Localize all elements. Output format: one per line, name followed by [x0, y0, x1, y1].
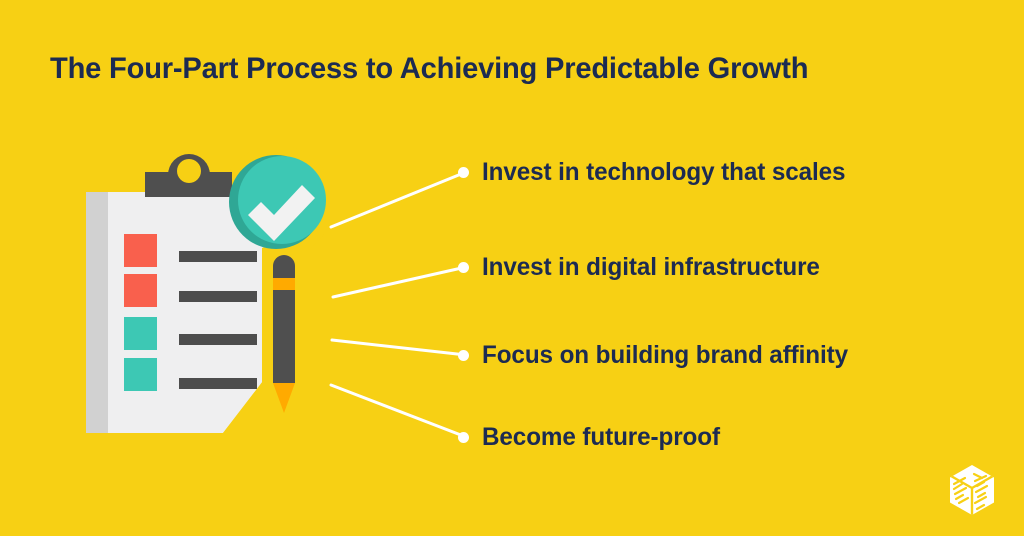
- text-line-2: [179, 291, 257, 302]
- connector-line-4: [331, 385, 466, 437]
- connector-line-2: [333, 267, 466, 297]
- checkbox-square-2: [124, 274, 157, 307]
- clipboard-checklist-illustration: [80, 140, 350, 460]
- bullet-item-label: Invest in digital infrastructure: [482, 253, 820, 282]
- text-line-3: [179, 334, 257, 345]
- bullet-item-3[interactable]: Focus on building brand affinity: [458, 338, 859, 372]
- clipboard-clip: [145, 154, 232, 197]
- bullet-item-4[interactable]: Become future-proof: [458, 420, 727, 454]
- text-line-1: [179, 251, 257, 262]
- bullet-dot-icon: [458, 350, 469, 361]
- hexagon-cube-logo: [948, 464, 996, 516]
- checkbox-square-3: [124, 317, 157, 350]
- connector-line-3: [332, 340, 466, 355]
- checkbox-square-1: [124, 234, 157, 267]
- text-line-4: [179, 378, 257, 389]
- pencil-icon: [262, 243, 306, 418]
- logo-hex-body: [948, 464, 996, 516]
- slide-canvas: The Four-Part Process to Achieving Predi…: [0, 0, 1024, 536]
- bullet-dot-icon: [458, 262, 469, 273]
- bullet-dot-icon: [458, 167, 469, 178]
- bullet-item-2[interactable]: Invest in digital infrastructure: [458, 250, 830, 284]
- bullet-item-label: Invest in technology that scales: [482, 158, 845, 187]
- checkbox-square-4: [124, 358, 157, 391]
- bullet-item-label: Become future-proof: [482, 423, 720, 452]
- bullet-item-label: Focus on building brand affinity: [482, 341, 848, 370]
- bullet-dot-icon: [458, 432, 469, 443]
- bullet-item-1[interactable]: Invest in technology that scales: [458, 155, 857, 189]
- connector-line-1: [331, 172, 466, 227]
- page-title: The Four-Part Process to Achieving Predi…: [50, 52, 923, 86]
